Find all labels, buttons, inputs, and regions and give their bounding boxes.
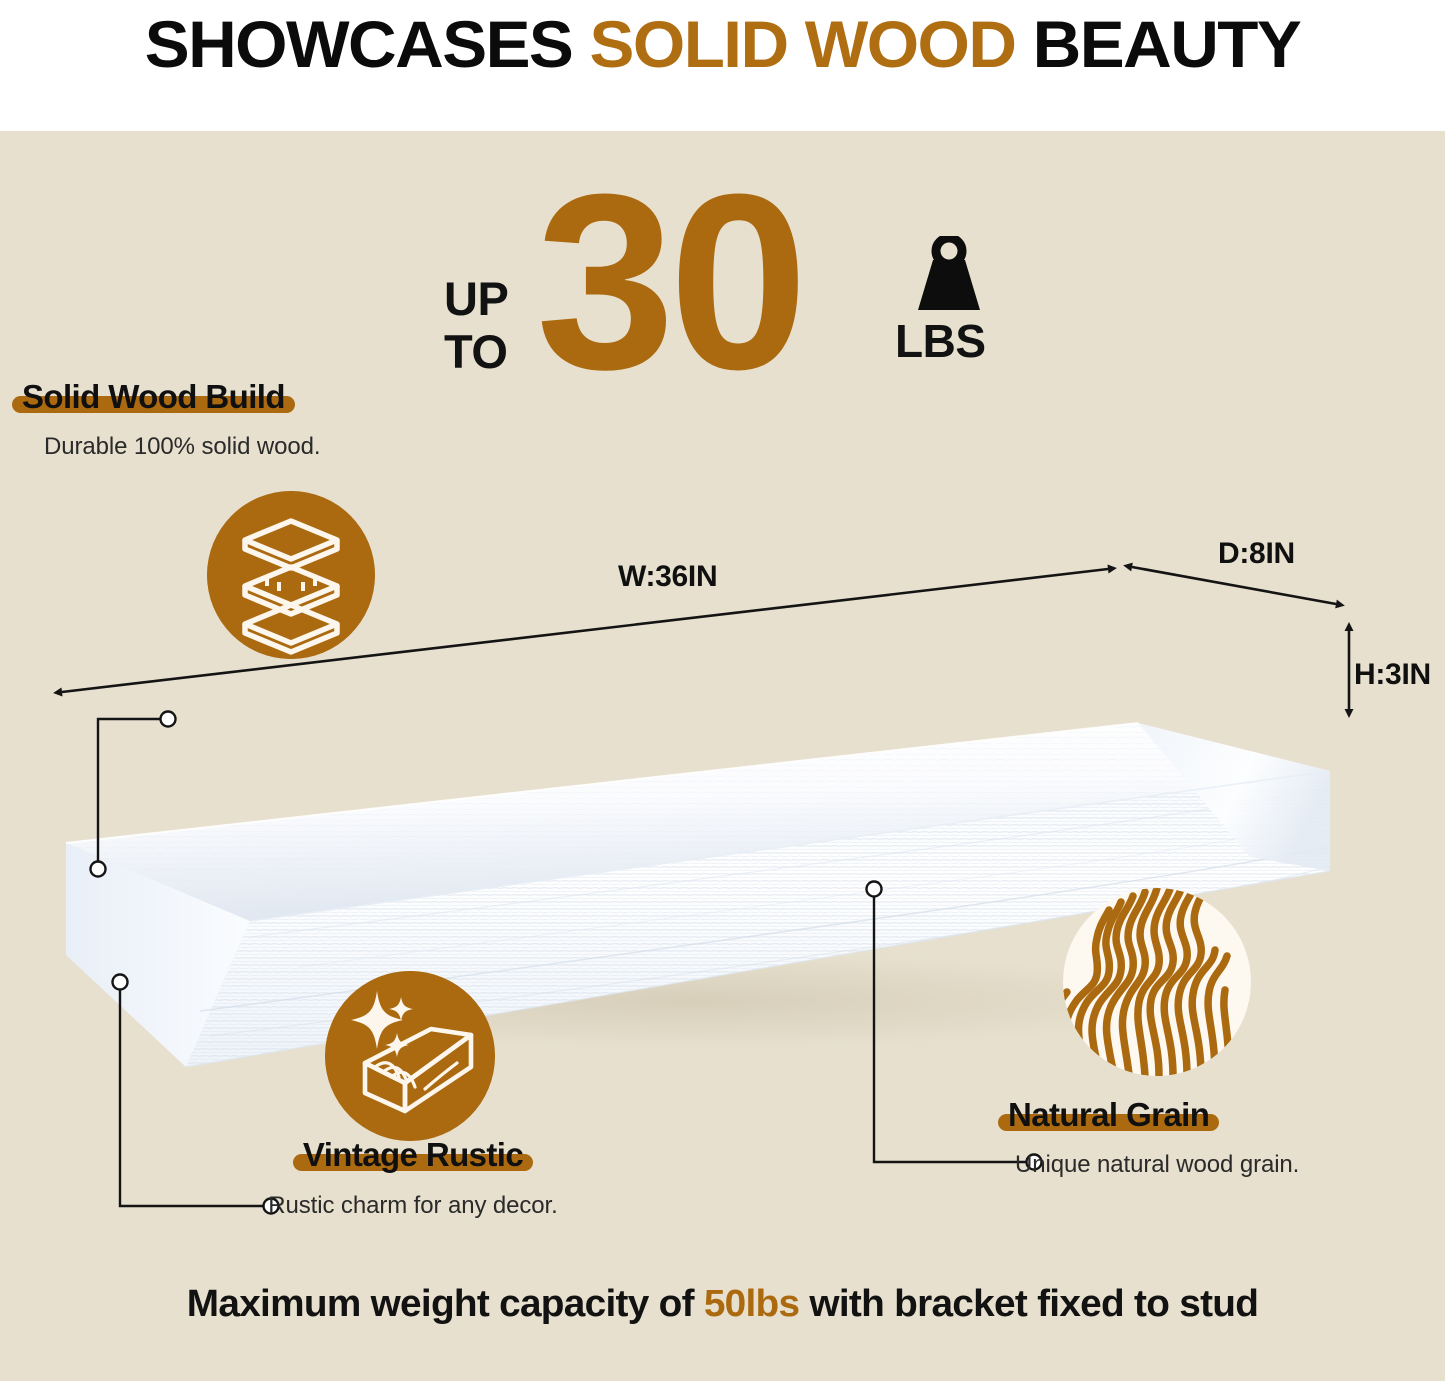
leader-endpoint-dot <box>113 975 128 990</box>
sparkling-wood-plank-icon <box>325 971 495 1141</box>
feature-vintage-rustic: Vintage Rustic Rustic charm for any deco… <box>262 1136 564 1221</box>
height-label: H:3IN <box>1354 658 1431 692</box>
leader-vintage-rustic <box>120 986 276 1206</box>
feature-title-wrap: Vintage Rustic <box>303 1136 523 1174</box>
leader-endpoint-dot <box>161 712 176 727</box>
capacity-unit: LBS <box>895 315 986 367</box>
weight-capacity-block: UP TO 30 LBS <box>440 179 1040 404</box>
content-canvas: UP TO 30 LBS Solid Wood Build Durable 10… <box>0 131 1445 1381</box>
title-segment-beauty: BEAUTY <box>1015 7 1300 81</box>
depth-label: D:8IN <box>1218 537 1295 571</box>
feature-title: Natural Grain <box>1008 1096 1209 1133</box>
footer-text-before: Maximum weight capacity of <box>187 1283 704 1325</box>
feature-subtitle: Unique natural wood grain. <box>1015 1150 1318 1180</box>
weight-icon <box>908 236 990 316</box>
feature-subtitle: Durable 100% solid wood. <box>44 432 320 462</box>
page-title: SHOWCASES SOLID WOOD BEAUTY <box>0 0 1445 90</box>
leader-solid-wood <box>98 719 163 864</box>
feature-title-wrap: Natural Grain <box>1008 1096 1209 1134</box>
infographic-root: SHOWCASES SOLID WOOD BEAUTY <box>0 0 1445 1381</box>
feature-natural-grain: Natural Grain Unique natural wood grain. <box>1008 1096 1318 1180</box>
capacity-number: 30 <box>536 157 802 407</box>
footer-text-after: with bracket fixed to stud <box>799 1283 1258 1325</box>
feature-title: Solid Wood Build <box>22 378 285 415</box>
stacked-wood-layers-icon <box>207 491 375 659</box>
footer-highlight: 50lbs <box>704 1283 800 1325</box>
feature-title-wrap: Solid Wood Build <box>22 378 285 416</box>
title-segment-showcases: SHOWCASES <box>145 7 590 81</box>
leader-endpoint-dot <box>867 882 882 897</box>
feature-title: Vintage Rustic <box>303 1136 523 1173</box>
footer-note: Maximum weight capacity of 50lbs with br… <box>0 1281 1445 1327</box>
feature-solid-wood-build: Solid Wood Build Durable 100% solid wood… <box>22 378 320 462</box>
title-segment-solid-wood: SOLID WOOD <box>589 7 1015 81</box>
header-band: SHOWCASES SOLID WOOD BEAUTY <box>0 0 1445 131</box>
feature-subtitle: Rustic charm for any decor. <box>262 1191 564 1221</box>
leader-endpoint-dot <box>91 862 106 877</box>
width-label: W:36IN <box>618 560 717 594</box>
wood-grain-pattern-icon <box>1063 888 1251 1076</box>
